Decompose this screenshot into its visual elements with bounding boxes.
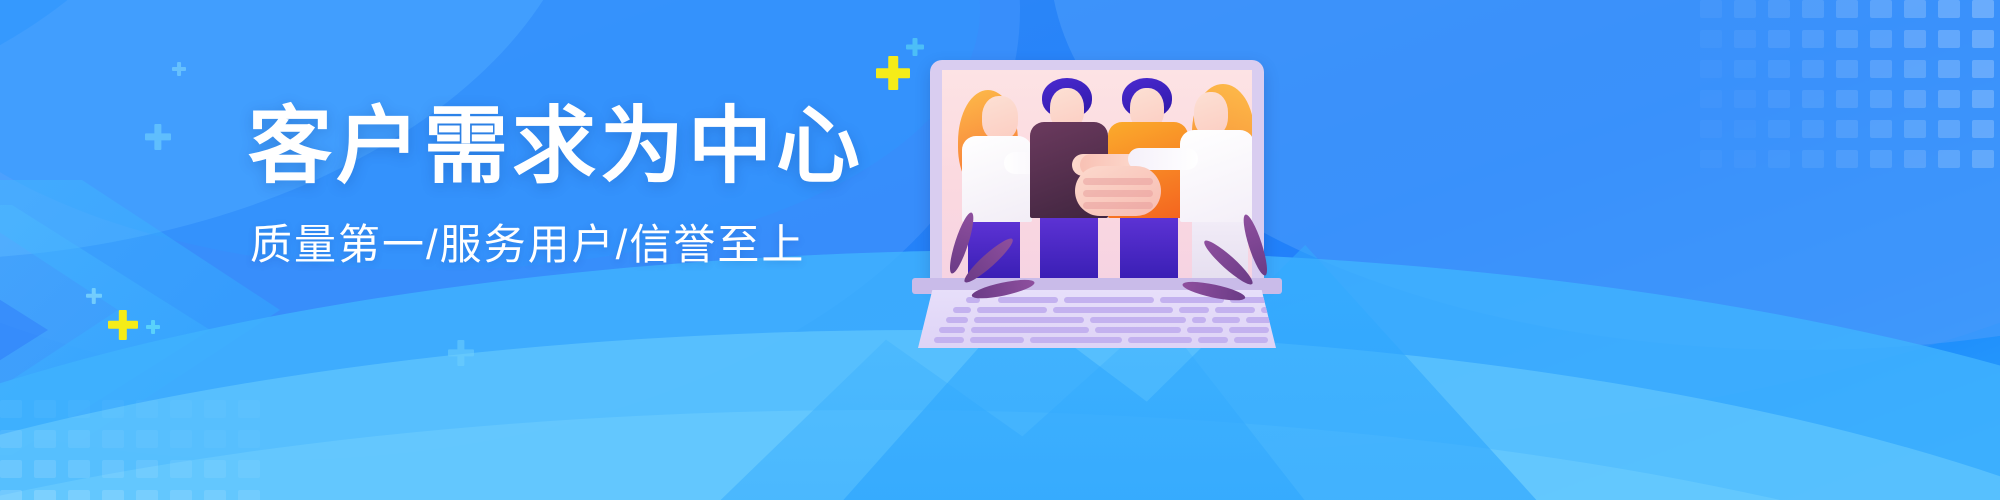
keyboard-key [1053,307,1173,313]
grid-square [1802,150,1824,168]
grid-square [136,400,158,418]
square-grid-bottom-left-icon [0,400,300,500]
grid-square [34,430,56,448]
grid-square [1802,120,1824,138]
grid-square [1734,120,1756,138]
grid-square [102,430,124,448]
grid-square [1700,60,1722,78]
keyboard-key [946,317,968,323]
grid-square [1768,120,1790,138]
grid-square [1938,30,1960,48]
grid-square [1938,120,1960,138]
grid-square [1870,60,1892,78]
grid-square [0,400,22,418]
grid-square [1802,30,1824,48]
grid-square [1836,30,1858,48]
grid-square [1938,90,1960,108]
grid-square [1734,0,1756,18]
grid-square [68,460,90,478]
grid-square [1768,30,1790,48]
grid-square [1938,150,1960,168]
keyboard-key [1192,317,1206,323]
grid-square [1734,90,1756,108]
grid-square [238,460,260,478]
keyboard-key [1187,327,1223,333]
keyboard-key [1128,337,1192,343]
grid-square [1734,150,1756,168]
grid-square [1972,60,1994,78]
grid-square [1870,90,1892,108]
grid-square [170,430,192,448]
keyboard-key [934,337,964,343]
plus-yellow-small-icon [108,310,138,340]
grid-square [204,400,226,418]
chevron-shape-back [0,205,210,455]
grid-square [1972,90,1994,108]
plus-yellow-large-icon [876,56,910,90]
grid-square [1938,0,1960,18]
grid-square [34,400,56,418]
grid-square [1972,0,1994,18]
keyboard-key [1234,337,1268,343]
grid-square [1870,30,1892,48]
grid-square [204,430,226,448]
grid-square [1870,0,1892,18]
laptop-illustration [912,60,1282,350]
grid-square [1734,60,1756,78]
promo-banner: 客户需求为中心 质量第一/服务用户/信誉至上 [0,0,2000,500]
plus-cyan-bottom-icon [448,340,474,366]
keyboard-key [970,337,1024,343]
grid-square [1870,150,1892,168]
keyboard-key [1212,317,1240,323]
grid-square [1802,0,1824,18]
grid-square [1836,120,1858,138]
grid-square [1802,60,1824,78]
grid-square [238,400,260,418]
grid-square [1972,30,1994,48]
grid-square [1972,120,1994,138]
plus-cyan-tiny-icon [172,62,186,76]
grid-square [34,460,56,478]
grid-square [170,460,192,478]
keyboard-key [953,307,971,313]
grid-square [1836,90,1858,108]
grid-square [1768,0,1790,18]
grid-square [204,490,226,500]
grid-square [1904,150,1926,168]
grid-square [238,490,260,500]
keyboard-key [974,317,1084,323]
plus-cyan-mid-icon [146,320,160,334]
grid-square [1836,60,1858,78]
grid-square [0,460,22,478]
grid-square [1700,120,1722,138]
keyboard-key [1215,307,1255,313]
grid-square [1700,30,1722,48]
keyboard-key [1246,317,1280,323]
grid-square [170,400,192,418]
grid-square [1802,90,1824,108]
grid-square [34,490,56,500]
grid-square [204,460,226,478]
grid-square [1768,60,1790,78]
grid-square [102,490,124,500]
grid-square [1734,30,1756,48]
keyboard-key [939,327,965,333]
banner-copy: 客户需求为中心 质量第一/服务用户/信誉至上 [248,104,868,266]
grid-square [1768,90,1790,108]
keyboard-key [1095,327,1181,333]
grid-square [1836,150,1858,168]
keyboard-key [1064,297,1154,303]
grid-square [1768,150,1790,168]
keyboard-key [971,327,1089,333]
grid-square [1700,150,1722,168]
keyboard-key [1229,327,1269,333]
keyboard-key [998,297,1058,303]
grid-square [136,430,158,448]
head [982,96,1018,140]
plus-cyan-large-icon [145,124,171,150]
chevron-shape-front [0,180,280,440]
grid-square [68,430,90,448]
page-subtitle: 质量第一/服务用户/信誉至上 [250,224,868,266]
grid-square [102,460,124,478]
torso-top [1180,130,1252,222]
keyboard-key [1198,337,1228,343]
grid-square [1904,120,1926,138]
grid-square [1972,150,1994,168]
plus-cyan-small-icon [906,38,924,56]
keyboard-key [1090,317,1186,323]
grid-square [0,490,22,500]
grid-square [1904,0,1926,18]
keyboard-key [1030,337,1122,343]
grid-square [170,490,192,500]
grid-square [68,400,90,418]
square-grid-top-right-icon [1700,0,2000,190]
grid-square [1836,0,1858,18]
grid-square [1870,120,1892,138]
grid-square [1904,30,1926,48]
keyboard-key [1179,307,1209,313]
grid-square [1904,90,1926,108]
grid-square [1700,90,1722,108]
grid-square [68,490,90,500]
grid-square [238,430,260,448]
grid-square [136,490,158,500]
grid-square [102,400,124,418]
grid-square [1700,0,1722,18]
wave-shape-3 [0,0,200,140]
keyboard-key [1261,307,1283,313]
stacked-hands-icon [1075,166,1161,216]
grid-square [1938,60,1960,78]
grid-square [136,460,158,478]
grid-square [0,430,22,448]
keyboard-key [977,307,1047,313]
grid-square [1904,60,1926,78]
page-title: 客户需求为中心 [248,104,868,188]
plus-cyan-faint-icon [86,288,102,304]
